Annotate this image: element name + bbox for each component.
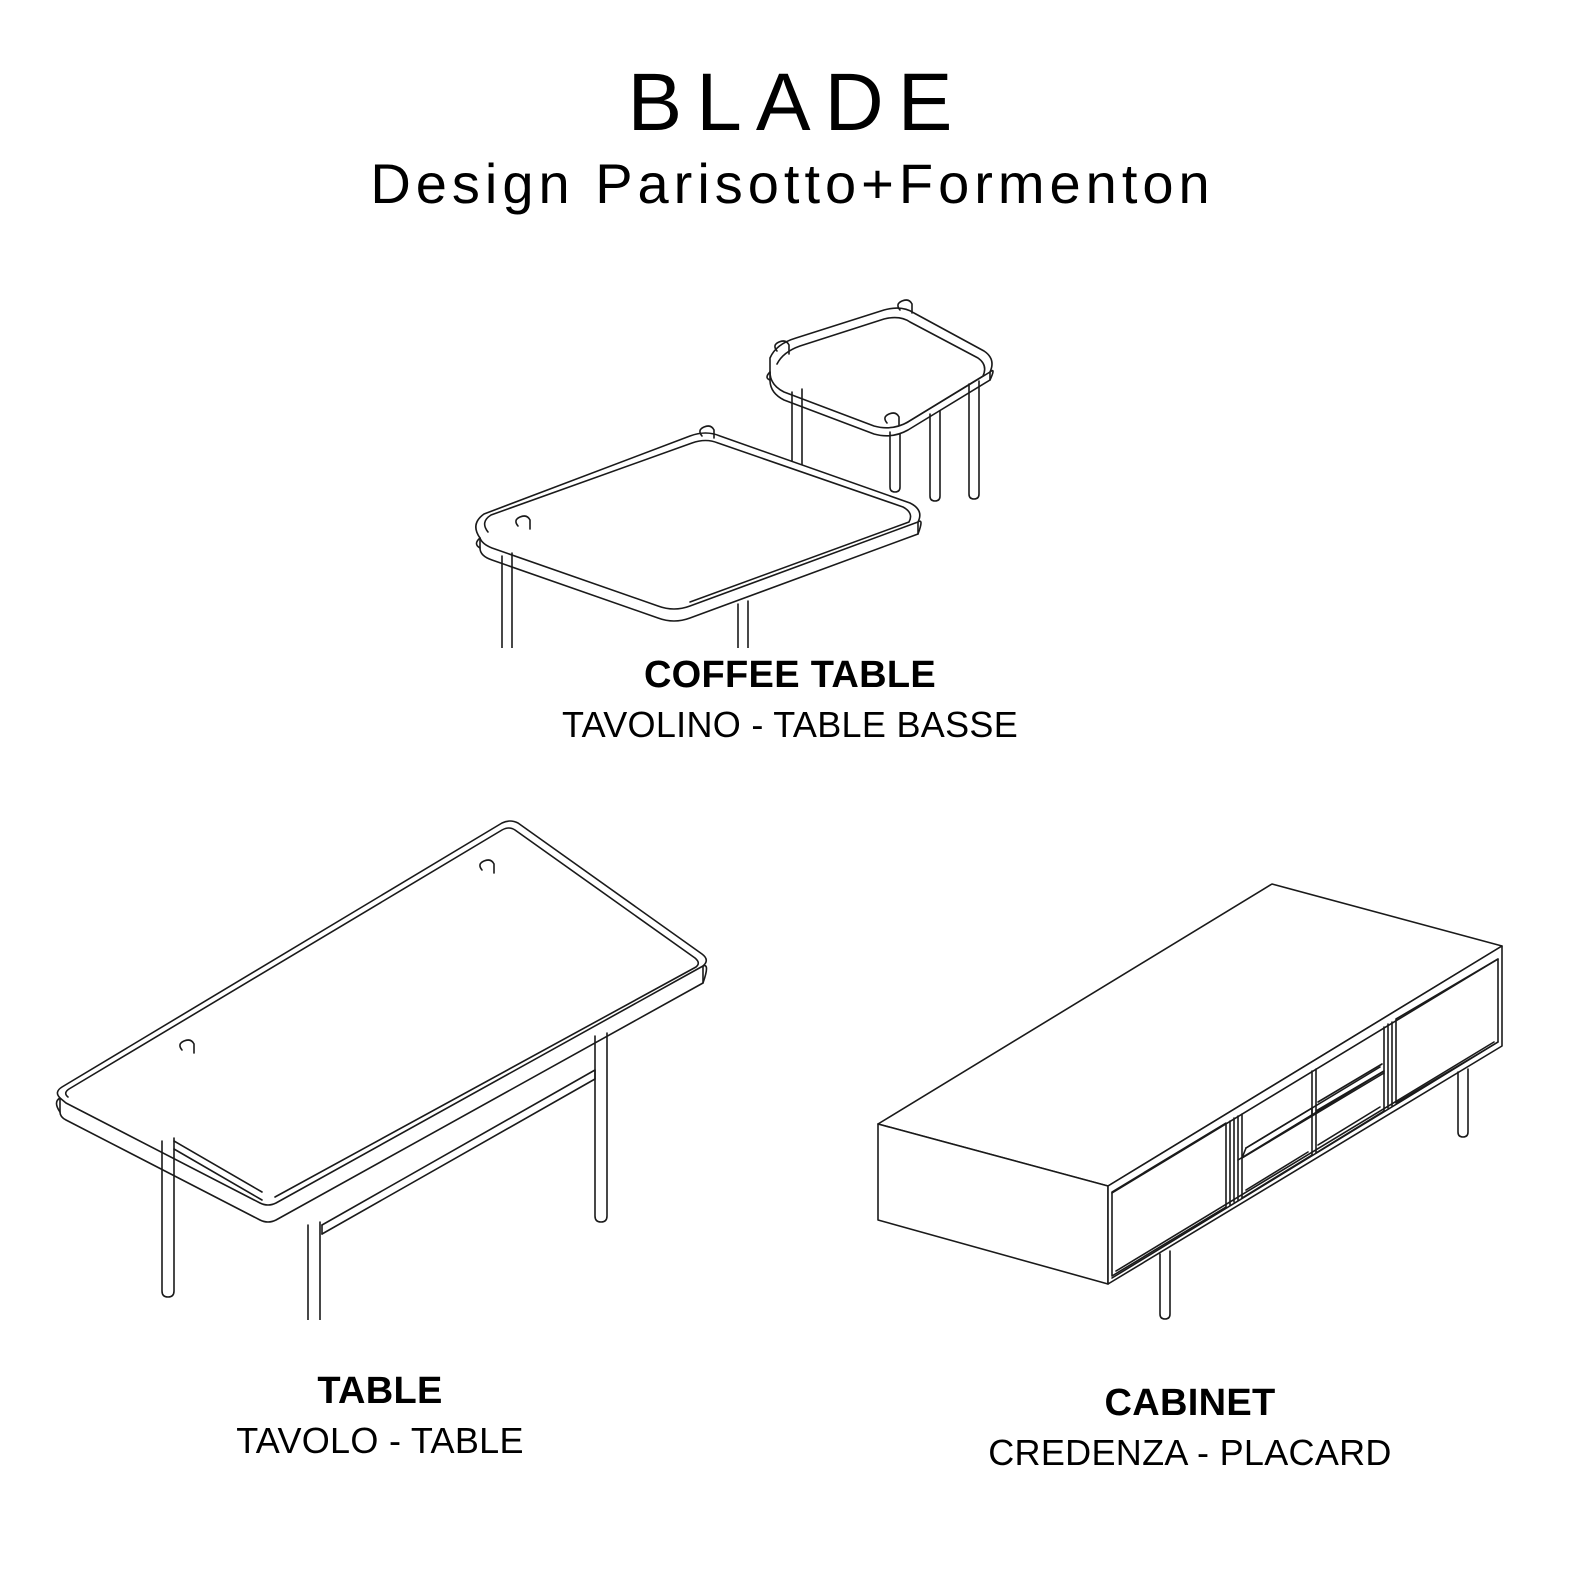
dining-table-icon — [30, 800, 730, 1320]
coffee-table-caption: COFFEE TABLE TAVOLINO - TABLE BASSE — [440, 656, 1140, 744]
coffee-table-subtitle: TAVOLINO - TABLE BASSE — [440, 696, 1140, 744]
cabinet-caption: CABINET CREDENZA - PLACARD — [860, 1384, 1520, 1472]
product-coffee-table[interactable]: COFFEE TABLE TAVOLINO - TABLE BASSE — [440, 288, 1140, 744]
brand-title: BLADE — [0, 0, 1580, 144]
page-header: BLADE Design Parisotto+Formenton — [0, 0, 1580, 212]
coffee-table-icon — [440, 288, 1140, 648]
table-subtitle: TAVOLO - TABLE — [30, 1412, 730, 1460]
cabinet-title: CABINET — [860, 1384, 1520, 1424]
copyright-watermark: 100Chaises/Viacom © — [1576, 0, 1580, 560]
table-caption: TABLE TAVOLO - TABLE — [30, 1372, 730, 1460]
catalog-page: BLADE Design Parisotto+Formenton — [0, 0, 1580, 1580]
product-cabinet[interactable]: CABINET CREDENZA - PLACARD — [860, 856, 1520, 1472]
table-title: TABLE — [30, 1372, 730, 1412]
cabinet-subtitle: CREDENZA - PLACARD — [860, 1424, 1520, 1472]
cabinet-icon — [860, 856, 1520, 1326]
designer-credit: Design Parisotto+Formenton — [0, 144, 1580, 212]
coffee-table-title: COFFEE TABLE — [440, 656, 1140, 696]
product-table[interactable]: TABLE TAVOLO - TABLE — [30, 800, 730, 1460]
watermark-text: 100Chaises/Viacom © — [1576, 126, 1580, 560]
